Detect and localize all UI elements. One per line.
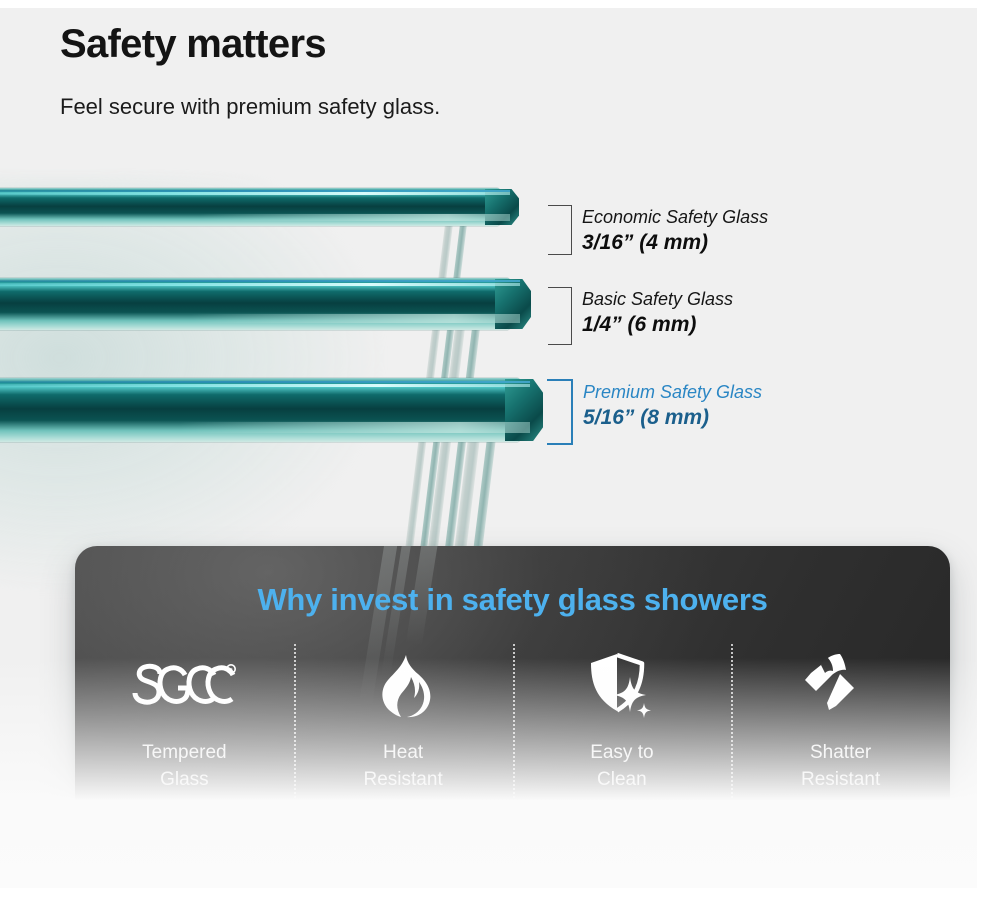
feature-tempered-glass: R Tempered Glass <box>75 650 294 860</box>
feature-label-line2: Resistant <box>364 769 443 790</box>
measure-name: Economic Safety Glass <box>582 207 768 228</box>
feature-label: Tempered Glass <box>142 740 227 794</box>
measure-bracket <box>547 379 573 445</box>
feature-label-line2: Resistant <box>801 769 880 790</box>
heading-block: Safety matters Feel secure with premium … <box>60 22 760 120</box>
hammer-icon <box>800 650 882 728</box>
measure-size: 5/16” (8 mm) <box>583 406 762 430</box>
measure-size: 1/4” (6 mm) <box>582 313 733 337</box>
feature-label: Heat Resistant <box>364 740 443 794</box>
measure-bracket <box>548 205 572 255</box>
feature-label-line1: Heat <box>383 742 423 763</box>
feature-list: R Tempered Glass <box>75 650 950 860</box>
measure-name: Premium Safety Glass <box>583 382 762 403</box>
page-title: Safety matters <box>60 22 760 66</box>
feature-label-line1: Shatter <box>810 742 871 763</box>
feature-card-title: Why invest in safety glass showers <box>75 582 950 618</box>
shield-sparkle-icon <box>584 650 660 728</box>
measure-bracket <box>548 287 572 345</box>
feature-label-line2: Glass <box>160 769 209 790</box>
measure-name: Basic Safety Glass <box>582 289 733 310</box>
measure-text: Premium Safety Glass 5/16” (8 mm) <box>583 382 762 430</box>
sgcc-certification-icon: R <box>130 650 238 728</box>
feature-easy-to-clean: Easy to Clean <box>513 650 732 860</box>
safety-glass-infographic: Safety matters Feel secure with premium … <box>0 0 990 910</box>
measure-text: Basic Safety Glass 1/4” (6 mm) <box>582 289 733 337</box>
feature-label-line1: Tempered <box>142 742 227 763</box>
svg-text:R: R <box>229 668 233 674</box>
feature-shatter-resistant: Shatter Resistant <box>731 650 950 860</box>
feature-label: Shatter Resistant <box>801 740 880 794</box>
measure-text: Economic Safety Glass 3/16” (4 mm) <box>582 207 768 255</box>
feature-heat-resistant: Heat Resistant <box>294 650 513 860</box>
content-panel: Safety matters Feel secure with premium … <box>0 8 977 888</box>
page-subtitle: Feel secure with premium safety glass. <box>60 94 760 120</box>
feature-label-line2: Clean <box>597 769 647 790</box>
flame-icon <box>372 650 434 728</box>
feature-label: Easy to Clean <box>590 740 653 794</box>
feature-card: Why invest in safety glass showers <box>75 546 950 876</box>
measure-size: 3/16” (4 mm) <box>582 231 768 255</box>
feature-label-line1: Easy to <box>590 742 653 763</box>
